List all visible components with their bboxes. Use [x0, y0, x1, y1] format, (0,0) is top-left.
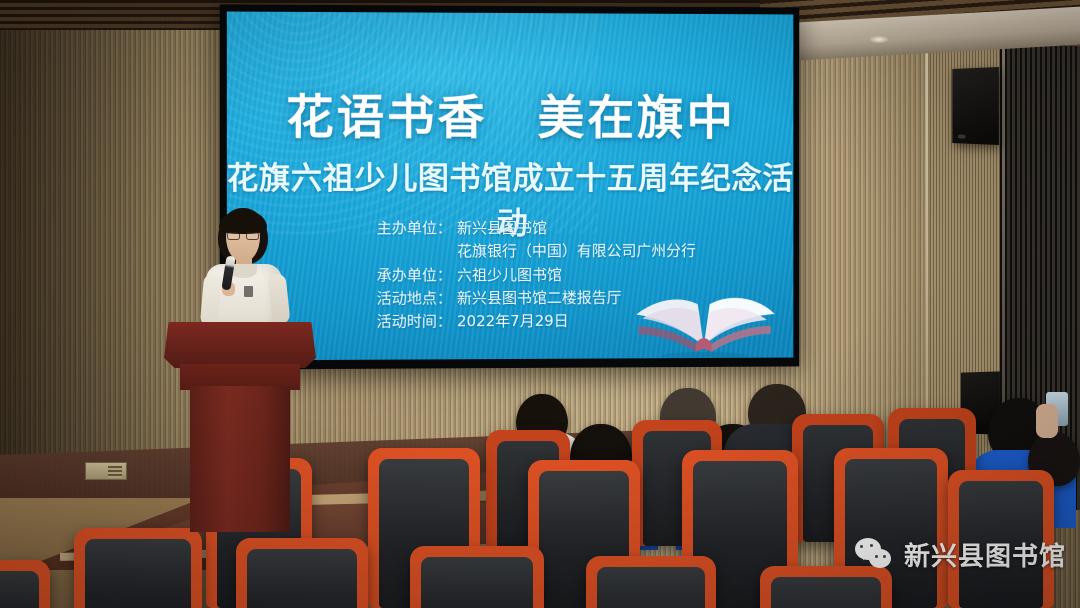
seat — [410, 546, 544, 608]
detail-line-date: 活动时间： 2022年7月29日 — [377, 309, 696, 334]
seat — [74, 528, 202, 608]
audience-hand — [1036, 404, 1058, 438]
lectern-top — [164, 322, 316, 368]
ceiling-downlight-icon — [870, 36, 888, 43]
lectern — [164, 322, 316, 532]
led-screen: 花语书香 美在旗中 花旗六祖少儿图书馆成立十五周年纪念活动 主办单位： 新兴县图… — [220, 4, 800, 369]
detail-line-organizer-2: 主办单位： 花旗银行（中国）有限公司广州分行 — [377, 240, 696, 264]
detail-value: 花旗银行（中国）有限公司广州分行 — [457, 240, 696, 264]
presenter — [196, 208, 292, 340]
detail-line-host: 承办单位： 六祖少儿图书馆 — [377, 263, 696, 287]
presentation-slide: 花语书香 美在旗中 花旗六祖少儿图书馆成立十五周年纪念活动 主办单位： 新兴县图… — [227, 12, 794, 361]
detail-value: 新兴县图书馆二楼报告厅 — [457, 286, 622, 310]
detail-value: 2022年7月29日 — [457, 310, 569, 334]
slide-details: 主办单位： 新兴县图书馆 主办单位： 花旗银行（中国）有限公司广州分行 承办单位… — [377, 217, 696, 334]
seat — [586, 556, 716, 608]
detail-line-location: 活动地点： 新兴县图书馆二楼报告厅 — [377, 286, 696, 310]
watermark: 新兴县图书馆 — [855, 536, 1066, 573]
watermark-label: 新兴县图书馆 — [904, 536, 1066, 573]
detail-line-organizer: 主办单位： 新兴县图书馆 — [377, 217, 696, 241]
loudspeaker-icon — [952, 67, 999, 145]
seat — [0, 560, 50, 608]
detail-value: 六祖少儿图书馆 — [457, 263, 562, 287]
detail-value: 新兴县图书馆 — [457, 217, 547, 240]
detail-label: 活动时间： — [377, 310, 457, 334]
detail-label: 承办单位： — [377, 264, 457, 288]
wechat-icon — [855, 538, 895, 572]
detail-label: 活动地点： — [377, 287, 457, 311]
lectern-body — [190, 386, 290, 532]
slide-title: 花语书香 美在旗中 — [227, 78, 794, 148]
wall-outlet — [85, 462, 127, 480]
presenter-fringe — [219, 210, 267, 234]
detail-label: 主办单位： — [377, 217, 457, 240]
seat — [236, 538, 368, 608]
auditorium-photo: 花语书香 美在旗中 花旗六祖少儿图书馆成立十五周年纪念活动 主办单位： 新兴县图… — [0, 0, 1080, 608]
glasses-icon — [227, 232, 259, 240]
shirt-logo — [244, 286, 253, 297]
